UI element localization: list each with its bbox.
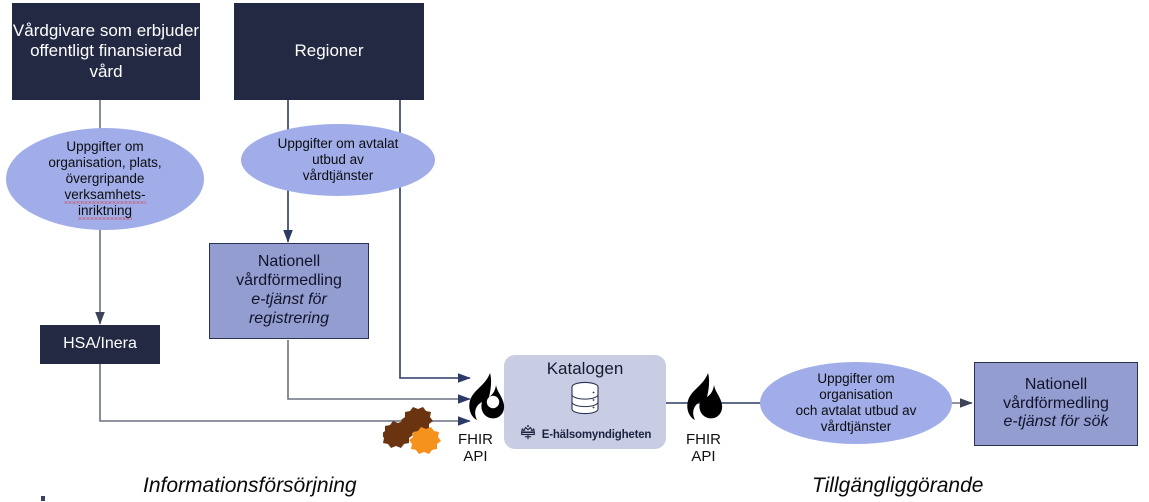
line-1: Uppgifter om	[66, 139, 143, 154]
line-2: vårdförmedling	[1003, 395, 1109, 412]
data-ellipse-agreed-offering[interactable]: Uppgifter om avtalat utbud av vårdtjänst…	[241, 124, 435, 196]
line-1: Uppgifter om avtalat	[278, 136, 399, 151]
line-3: e-tjänst för	[251, 291, 327, 308]
gears-icon	[383, 405, 449, 462]
line-3: vårdtjänster	[303, 168, 374, 183]
system-hsa-inera-label: HSA/Inera	[63, 335, 137, 354]
catalog-title: Katalogen	[547, 359, 624, 379]
line-2: organisation, plats,	[48, 155, 161, 170]
line-1: Nationell	[258, 253, 320, 270]
authority-logo: E-hälsomyndigheten	[519, 424, 652, 448]
actor-care-provider-label: Vårdgivare som erbjuder offentligt finan…	[12, 21, 200, 81]
system-hsa-inera[interactable]: HSA/Inera	[40, 325, 160, 364]
service-national-search-label: Nationell vårdförmedling e-tjänst för sö…	[1003, 376, 1109, 433]
data-ellipse-agreed-offering-label: Uppgifter om avtalat utbud av vårdtjänst…	[278, 136, 399, 184]
fhir-api-label-right: FHIR API	[686, 432, 721, 466]
line-2: vårdförmedling	[236, 272, 342, 289]
catalog-card[interactable]: Katalogen E-häl	[504, 355, 666, 449]
authority-name: E-hälsomyndigheten	[542, 429, 652, 443]
line-3: e-tjänst för sök	[1004, 413, 1109, 430]
actor-regions-label: Regioner	[295, 41, 364, 61]
line-2: organisation	[819, 387, 893, 402]
phase-label-information-supply: Informationsförsörjning	[143, 474, 357, 498]
line-4: vårdtjänster	[821, 419, 892, 434]
line-2: utbud av	[312, 152, 364, 167]
database-cylinder-icon	[570, 381, 600, 421]
data-ellipse-org-and-offering-label: Uppgifter om organisation och avtalat ut…	[796, 371, 917, 435]
line-3: övergripande	[66, 171, 145, 186]
line-1: FHIR	[458, 431, 493, 448]
service-national-registration[interactable]: Nationell vårdförmedling e-tjänst för re…	[209, 243, 369, 339]
actor-care-provider[interactable]: Vårdgivare som erbjuder offentligt finan…	[12, 3, 200, 100]
fhir-flame-icon	[682, 372, 726, 439]
data-ellipse-organisation[interactable]: Uppgifter om organisation, plats, övergr…	[6, 128, 204, 230]
line-4: verksamhets-	[64, 187, 145, 204]
fhir-api-label-left: FHIR API	[458, 432, 493, 466]
swedish-crown-icon	[519, 424, 537, 448]
line-5: inriktning	[78, 203, 132, 220]
fhir-flame-icon	[464, 372, 508, 439]
service-national-search[interactable]: Nationell vårdförmedling e-tjänst för sö…	[974, 362, 1138, 446]
line-2: API	[691, 448, 715, 465]
line-1: Uppgifter om	[817, 371, 894, 386]
data-ellipse-organisation-label: Uppgifter om organisation, plats, övergr…	[48, 139, 161, 219]
data-ellipse-org-and-offering[interactable]: Uppgifter om organisation och avtalat ut…	[760, 362, 952, 444]
line-1: FHIR	[686, 431, 721, 448]
actor-regions[interactable]: Regioner	[234, 3, 424, 100]
line-3: och avtalat utbud av	[796, 403, 917, 418]
line-4: registrering	[249, 310, 329, 327]
line-1: Nationell	[1025, 376, 1087, 393]
diagram-canvas: Vårdgivare som erbjuder offentligt finan…	[0, 0, 1149, 502]
page-artifact-mark	[41, 496, 45, 501]
service-national-registration-label: Nationell vårdförmedling e-tjänst för re…	[236, 253, 342, 329]
line-2: API	[463, 448, 487, 465]
phase-label-availability: Tillgängliggörande	[812, 474, 983, 498]
